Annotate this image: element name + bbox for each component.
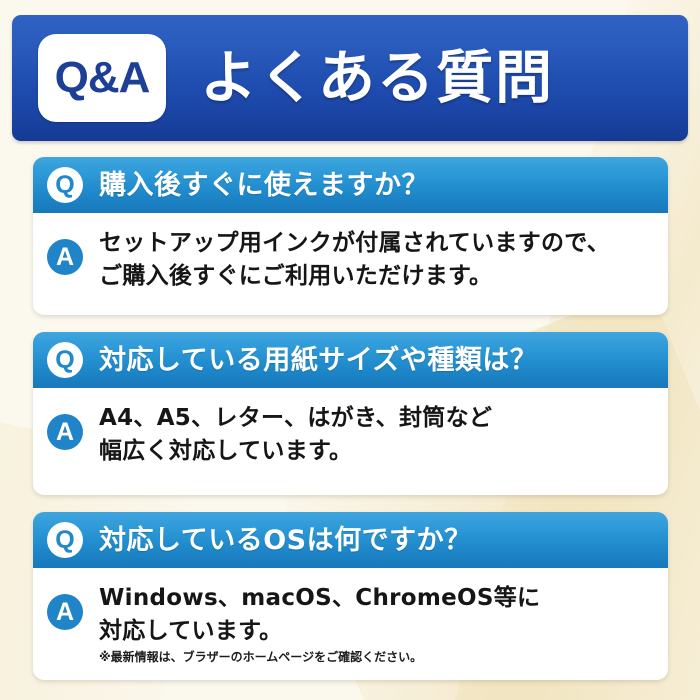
faq-page: Q&A よくある質問 Q 購入後すぐに使えますか？ A セットアップ用インクが付… xyxy=(0,0,700,700)
question-text: 購入後すぐに使えますか？ xyxy=(99,172,429,199)
question-bar: Q 購入後すぐに使えますか？ xyxy=(33,157,668,213)
answer-body: A A4、A5、レター、はがき、封筒など 幅広く対応しています。 xyxy=(33,388,668,477)
answer-marker-icon: A xyxy=(47,594,83,630)
answer-lines: セットアップ用インクが付属されていますので、 ご購入後すぐにご利用いただけます。 xyxy=(99,227,654,292)
question-bar: Q 対応しているOSは何ですか？ xyxy=(33,512,668,568)
question-marker-icon: Q xyxy=(47,522,83,558)
faq-item: Q 対応しているOSは何ですか？ A Windows、macOS、ChromeO… xyxy=(33,512,668,680)
faq-item: Q 購入後すぐに使えますか？ A セットアップ用インクが付属されていますので、 … xyxy=(33,157,668,315)
faq-item: Q 対応している用紙サイズや種類は？ A A4、A5、レター、はがき、封筒など … xyxy=(33,332,668,495)
answer-line: Windows、macOS、ChromeOS等に xyxy=(99,582,654,615)
answer-body: A セットアップ用インクが付属されていますので、 ご購入後すぐにご利用いただけま… xyxy=(33,213,668,302)
answer-line: 対応しています。 xyxy=(99,615,654,648)
answer-body: A Windows、macOS、ChromeOS等に 対応しています。 ※最新情… xyxy=(33,568,668,676)
answer-line: セットアップ用インクが付属されていますので、 xyxy=(99,227,654,260)
faq-header-banner: Q&A よくある質問 xyxy=(12,15,688,141)
question-bar: Q 対応している用紙サイズや種類は？ xyxy=(33,332,668,388)
qa-badge: Q&A xyxy=(38,34,166,122)
answer-lines: Windows、macOS、ChromeOS等に 対応しています。 ※最新情報は… xyxy=(99,582,654,666)
page-title: よくある質問 xyxy=(200,50,554,107)
question-marker-icon: Q xyxy=(47,342,83,378)
answer-lines: A4、A5、レター、はがき、封筒など 幅広く対応しています。 xyxy=(99,402,654,467)
answer-marker-icon: A xyxy=(47,414,83,450)
qa-badge-label: Q&A xyxy=(55,53,150,103)
answer-footnote: ※最新情報は、ブラザーのホームページをご確認ください。 xyxy=(99,650,654,666)
answer-line: ご購入後すぐにご利用いただけます。 xyxy=(99,260,654,293)
question-text: 対応しているOSは何ですか？ xyxy=(99,527,472,554)
answer-line: A4、A5、レター、はがき、封筒など xyxy=(99,402,654,435)
question-text: 対応している用紙サイズや種類は？ xyxy=(99,347,537,374)
question-marker-icon: Q xyxy=(47,167,83,203)
answer-line: 幅広く対応しています。 xyxy=(99,435,654,468)
answer-marker-icon: A xyxy=(47,239,83,275)
